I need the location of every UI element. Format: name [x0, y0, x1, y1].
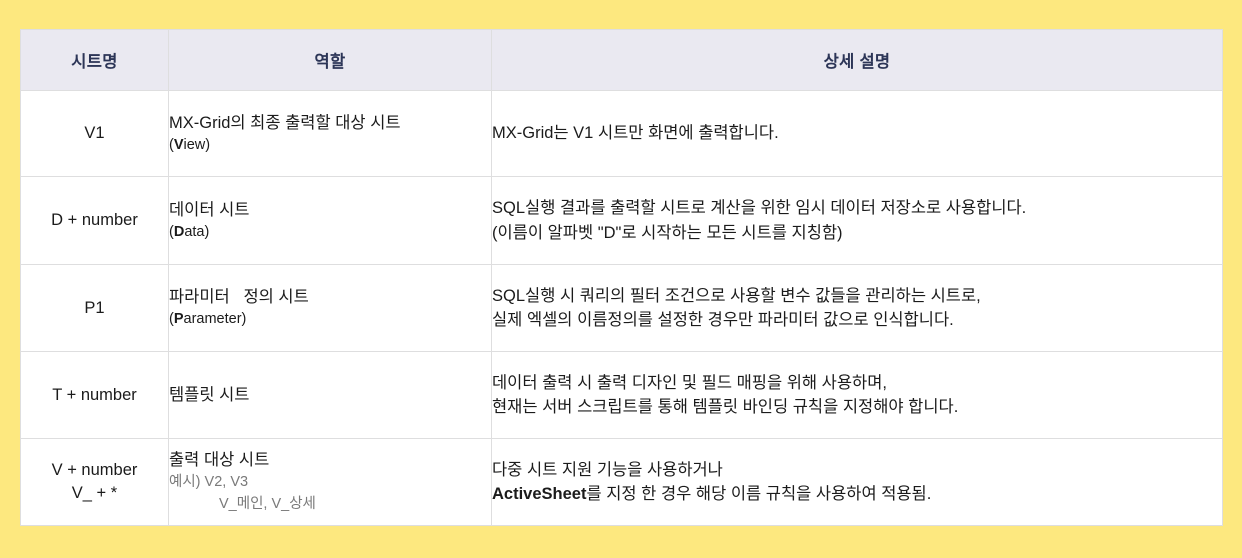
- description-text: 다중 시트 지원 기능을 사용하거나: [492, 461, 723, 479]
- table-row: V + number V_ + * 출력 대상 시트 예시) V2, V3 V_…: [21, 439, 1223, 526]
- page-root: 시트명 역할 상세 설명 V1 MX-Grid의 최종 출력할 대상 시트 (V…: [0, 0, 1242, 558]
- role-sub-suffix: iew): [184, 137, 211, 153]
- cell-description: 다중 시트 지원 기능을 사용하거나 ActiveSheet를 지정 한 경우 …: [492, 439, 1223, 526]
- table-body: V1 MX-Grid의 최종 출력할 대상 시트 (View) MX-Grid는…: [21, 91, 1223, 526]
- cell-role: 출력 대상 시트 예시) V2, V3 V_메인, V_상세: [169, 439, 492, 526]
- cell-sheet-name: T + number: [21, 352, 169, 439]
- description-line: ActiveSheet를 지정 한 경우 해당 이름 규칙을 사용하여 적용됨.: [492, 482, 1222, 506]
- description-bold-term: ActiveSheet: [492, 485, 586, 503]
- table-row: D + number 데이터 시트 (Data) SQL실행 결과를 출력할 시…: [21, 177, 1223, 265]
- role-example-line: 예시) V2, V3: [169, 472, 491, 493]
- role-title: 템플릿 시트: [169, 384, 491, 406]
- sheet-reference-table: 시트명 역할 상세 설명 V1 MX-Grid의 최종 출력할 대상 시트 (V…: [20, 29, 1223, 526]
- role-subtitle: (View): [169, 136, 491, 156]
- description-line: 다중 시트 지원 기능을 사용하거나: [492, 458, 1222, 482]
- description-line: 실제 엑셀의 이름정의를 설정한 경우만 파라미터 값으로 인식합니다.: [492, 308, 1222, 332]
- cell-role: 데이터 시트 (Data): [169, 177, 492, 265]
- table-header-row: 시트명 역할 상세 설명: [21, 30, 1223, 91]
- cell-sheet-name: V1: [21, 91, 169, 177]
- role-title: 데이터 시트: [169, 199, 491, 221]
- description-line: (이름이 알파벳 "D"로 시작하는 모든 시트를 지칭함): [492, 221, 1222, 245]
- cell-role: 파라미터 정의 시트 (Parameter): [169, 265, 492, 352]
- description-line: MX-Grid는 V1 시트만 화면에 출력합니다.: [492, 121, 1222, 145]
- cell-sheet-name: P1: [21, 265, 169, 352]
- sheet-name-line: V1: [21, 122, 168, 145]
- description-line: SQL실행 결과를 출력할 시트로 계산을 위한 임시 데이터 저장소로 사용합…: [492, 196, 1222, 220]
- role-title: 출력 대상 시트: [169, 449, 491, 471]
- role-sub-suffix: ata): [184, 224, 209, 240]
- cell-description: SQL실행 결과를 출력할 시트로 계산을 위한 임시 데이터 저장소로 사용합…: [492, 177, 1223, 265]
- sheet-name-line: P1: [21, 297, 168, 320]
- role-sub-initial: D: [174, 224, 184, 240]
- role-example-line: V_메인, V_상세: [169, 494, 491, 515]
- cell-description: 데이터 출력 시 출력 디자인 및 필드 매핑을 위해 사용하며, 현재는 서버…: [492, 352, 1223, 439]
- table-row: T + number 템플릿 시트 데이터 출력 시 출력 디자인 및 필드 매…: [21, 352, 1223, 439]
- cell-role: 템플릿 시트: [169, 352, 492, 439]
- role-sub-initial: P: [174, 311, 184, 327]
- cell-role: MX-Grid의 최종 출력할 대상 시트 (View): [169, 91, 492, 177]
- role-sub-suffix: arameter): [184, 311, 247, 327]
- column-header-role: 역할: [169, 30, 492, 91]
- sheet-name-line: V + number: [21, 459, 168, 482]
- description-line: 데이터 출력 시 출력 디자인 및 필드 매핑을 위해 사용하며,: [492, 371, 1222, 395]
- cell-description: SQL실행 시 쿼리의 필터 조건으로 사용할 변수 값들을 관리하는 시트로,…: [492, 265, 1223, 352]
- role-subtitle: (Data): [169, 223, 491, 243]
- sheet-name-line: D + number: [21, 209, 168, 232]
- cell-description: MX-Grid는 V1 시트만 화면에 출력합니다.: [492, 91, 1223, 177]
- table-header: 시트명 역할 상세 설명: [21, 30, 1223, 91]
- role-subtitle: (Parameter): [169, 310, 491, 330]
- cell-sheet-name: D + number: [21, 177, 169, 265]
- description-line: SQL실행 시 쿼리의 필터 조건으로 사용할 변수 값들을 관리하는 시트로,: [492, 284, 1222, 308]
- column-header-name: 시트명: [21, 30, 169, 91]
- description-line: 현재는 서버 스크립트를 통해 템플릿 바인딩 규칙을 지정해야 합니다.: [492, 395, 1222, 419]
- role-title: MX-Grid의 최종 출력할 대상 시트: [169, 112, 491, 134]
- sheet-name-line: T + number: [21, 384, 168, 407]
- description-text: 를 지정 한 경우 해당 이름 규칙을 사용하여 적용됨.: [586, 485, 931, 503]
- sheet-name-line: V_ + *: [21, 482, 168, 505]
- role-title: 파라미터 정의 시트: [169, 286, 491, 308]
- table-row: P1 파라미터 정의 시트 (Parameter) SQL실행 시 쿼리의 필터…: [21, 265, 1223, 352]
- column-header-description: 상세 설명: [492, 30, 1223, 91]
- table-row: V1 MX-Grid의 최종 출력할 대상 시트 (View) MX-Grid는…: [21, 91, 1223, 177]
- role-sub-initial: V: [174, 137, 184, 153]
- cell-sheet-name: V + number V_ + *: [21, 439, 169, 526]
